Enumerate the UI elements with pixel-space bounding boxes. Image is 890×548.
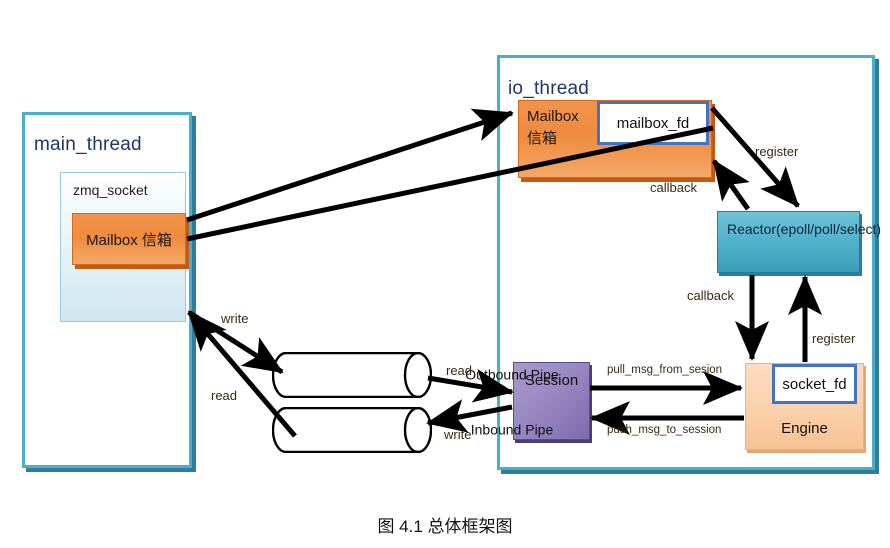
arrow-io-mailbox-to-main-mailbox (187, 128, 713, 239)
edge-label-callback-engine: callback (687, 288, 734, 303)
edge-label-read-inbound: read (211, 388, 237, 403)
arrow-write-session-to-inbound-pipe (428, 407, 512, 423)
figure-caption: 图 4.1 总体框架图 (0, 512, 890, 537)
diagram-canvas: main_thread zmq_socket Mailbox 信箱 io_thr… (0, 0, 890, 548)
arrow-read-inbound-pipe-to-main (189, 312, 295, 436)
edge-label-register-mailbox: register (755, 144, 798, 159)
edge-label-write-session-inbound: write (444, 427, 471, 442)
edge-label-register-socket: register (812, 331, 855, 346)
arrow-read-outbound-pipe-to-session (428, 378, 512, 392)
edge-label-callback-mailbox: callback (650, 180, 697, 195)
edge-label-push-msg: push_msg_to_session (607, 424, 721, 436)
arrow-layer (0, 0, 890, 548)
edge-label-write-outbound: write (221, 311, 248, 326)
edge-label-pull-msg: pull_msg_from_sesion (607, 364, 722, 376)
edge-label-read-outbound-session: read (446, 363, 472, 378)
arrow-callback-reactor-to-mailbox (714, 161, 748, 209)
